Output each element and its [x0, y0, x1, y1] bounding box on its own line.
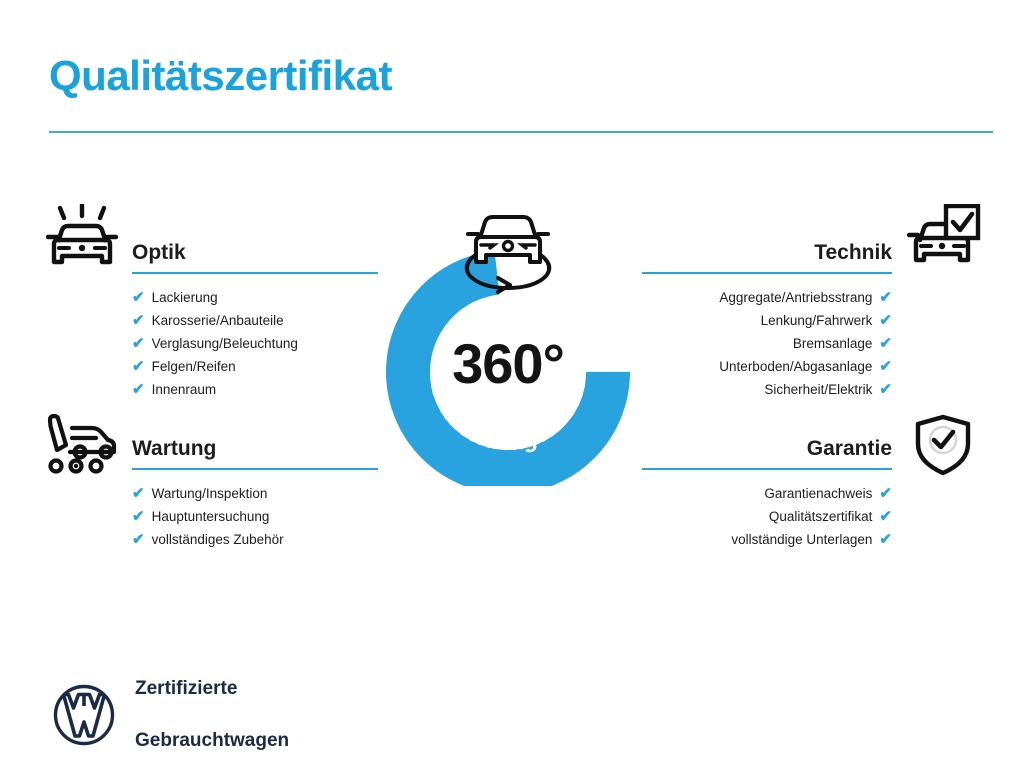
shield-check-icon	[912, 414, 974, 481]
volkswagen-logo	[53, 684, 115, 746]
car-rotate-360-icon	[452, 200, 564, 300]
list-item-label: Bremsanlage	[793, 332, 873, 355]
check-icon: ✔	[132, 336, 145, 351]
list-item-label: Qualitätszertifikat	[769, 505, 873, 528]
checklist-optik: ✔Lackierung ✔Karosserie/Anbauteile ✔Verg…	[132, 286, 378, 401]
list-item: ✔Hauptuntersuchung	[132, 505, 378, 528]
check-icon: ✔	[879, 313, 892, 328]
section-divider	[642, 468, 892, 470]
section-divider	[642, 272, 892, 274]
footer-brand-text: Zertifizierte Gebrauchtwagen	[135, 650, 289, 780]
list-item: Aggregate/Antriebsstrang✔	[642, 286, 892, 309]
checklist-technik: Aggregate/Antriebsstrang✔ Lenkung/Fahrwe…	[642, 286, 892, 401]
check-icon: ✔	[879, 382, 892, 397]
list-item: ✔Wartung/Inspektion	[132, 482, 378, 505]
list-item-label: vollständige Unterlagen	[731, 528, 872, 551]
list-item-label: vollständiges Zubehör	[152, 528, 284, 551]
check-icon: ✔	[132, 313, 145, 328]
list-item: Sicherheit/Elektrik✔	[642, 378, 892, 401]
section-header: Garantie	[642, 434, 892, 470]
section-garantie: Garantie Garantienachweis✔ Qualitätszert…	[642, 434, 892, 551]
list-item: Bremsanlage✔	[642, 332, 892, 355]
list-item: ✔vollständiges Zubehör	[132, 528, 378, 551]
list-item: ✔Innenraum	[132, 378, 378, 401]
check-icon: ✔	[879, 359, 892, 374]
list-item: ✔Felgen/Reifen	[132, 355, 378, 378]
list-item: ✔Karosserie/Anbauteile	[132, 309, 378, 332]
footer-line-2: Gebrauchtwagen	[135, 728, 289, 754]
section-technik: Technik Aggregate/Antriebsstrang✔ Lenkun…	[642, 238, 892, 401]
check-icon: ✔	[132, 509, 145, 524]
check-icon: ✔	[879, 509, 892, 524]
check-icon: ✔	[879, 532, 892, 547]
list-item-label: Unterboden/Abgasanlage	[719, 355, 872, 378]
list-item-label: Hauptuntersuchung	[152, 505, 270, 528]
section-title: Optik	[132, 238, 378, 268]
list-item-label: Wartung/Inspektion	[152, 482, 268, 505]
badge-number: 360°	[372, 331, 644, 396]
list-item: Unterboden/Abgasanlage✔	[642, 355, 892, 378]
check-icon: ✔	[132, 532, 145, 547]
list-item-label: Felgen/Reifen	[152, 355, 236, 378]
checklist-garantie: Garantienachweis✔ Qualitätszertifikat✔ v…	[642, 482, 892, 551]
section-optik: Optik ✔Lackierung ✔Karosserie/Anbauteile…	[132, 238, 378, 401]
list-item: ✔Verglasung/Beleuchtung	[132, 332, 378, 355]
list-item: vollständige Unterlagen✔	[642, 528, 892, 551]
section-header: Wartung	[132, 434, 378, 470]
check-icon: ✔	[132, 486, 145, 501]
list-item-label: Aggregate/Antriebsstrang	[719, 286, 872, 309]
car-checkbox-icon	[906, 204, 982, 277]
check-icon: ✔	[132, 359, 145, 374]
list-item: Lenkung/Fahrwerk✔	[642, 309, 892, 332]
list-item-label: Garantienachweis	[764, 482, 872, 505]
section-header: Technik	[642, 238, 892, 274]
list-item-label: Lenkung/Fahrwerk	[761, 309, 873, 332]
check-icon: ✔	[879, 486, 892, 501]
section-header: Optik	[132, 238, 378, 274]
check-icon: ✔	[132, 382, 145, 397]
section-wartung: Wartung ✔Wartung/Inspektion ✔Hauptunters…	[132, 434, 378, 551]
badge-360-gebrauchtwagen-check: Gebrauchtwagen-Check 360°	[372, 196, 644, 486]
footer-brand: Zertifizierte Gebrauchtwagen	[53, 650, 289, 780]
list-item-label: Sicherheit/Elektrik	[764, 378, 872, 401]
title-divider	[49, 131, 993, 133]
list-item-label: Karosserie/Anbauteile	[152, 309, 284, 332]
list-item-label: Verglasung/Beleuchtung	[152, 332, 298, 355]
page-title: Qualitätszertifikat	[49, 52, 392, 100]
list-item-label: Innenraum	[152, 378, 217, 401]
check-icon: ✔	[132, 290, 145, 305]
check-icon: ✔	[879, 290, 892, 305]
list-item: Qualitätszertifikat✔	[642, 505, 892, 528]
footer-line-1: Zertifizierte	[135, 676, 289, 702]
section-title: Technik	[642, 238, 892, 268]
section-title: Garantie	[642, 434, 892, 464]
list-item-label: Lackierung	[152, 286, 218, 309]
section-divider	[132, 272, 378, 274]
check-icon: ✔	[879, 336, 892, 351]
section-title: Wartung	[132, 434, 378, 464]
list-item: Garantienachweis✔	[642, 482, 892, 505]
car-shine-icon	[46, 204, 120, 277]
section-divider	[132, 468, 378, 470]
checklist-wartung: ✔Wartung/Inspektion ✔Hauptuntersuchung ✔…	[132, 482, 378, 551]
list-item: ✔Lackierung	[132, 286, 378, 309]
car-service-tool-icon	[46, 414, 120, 479]
